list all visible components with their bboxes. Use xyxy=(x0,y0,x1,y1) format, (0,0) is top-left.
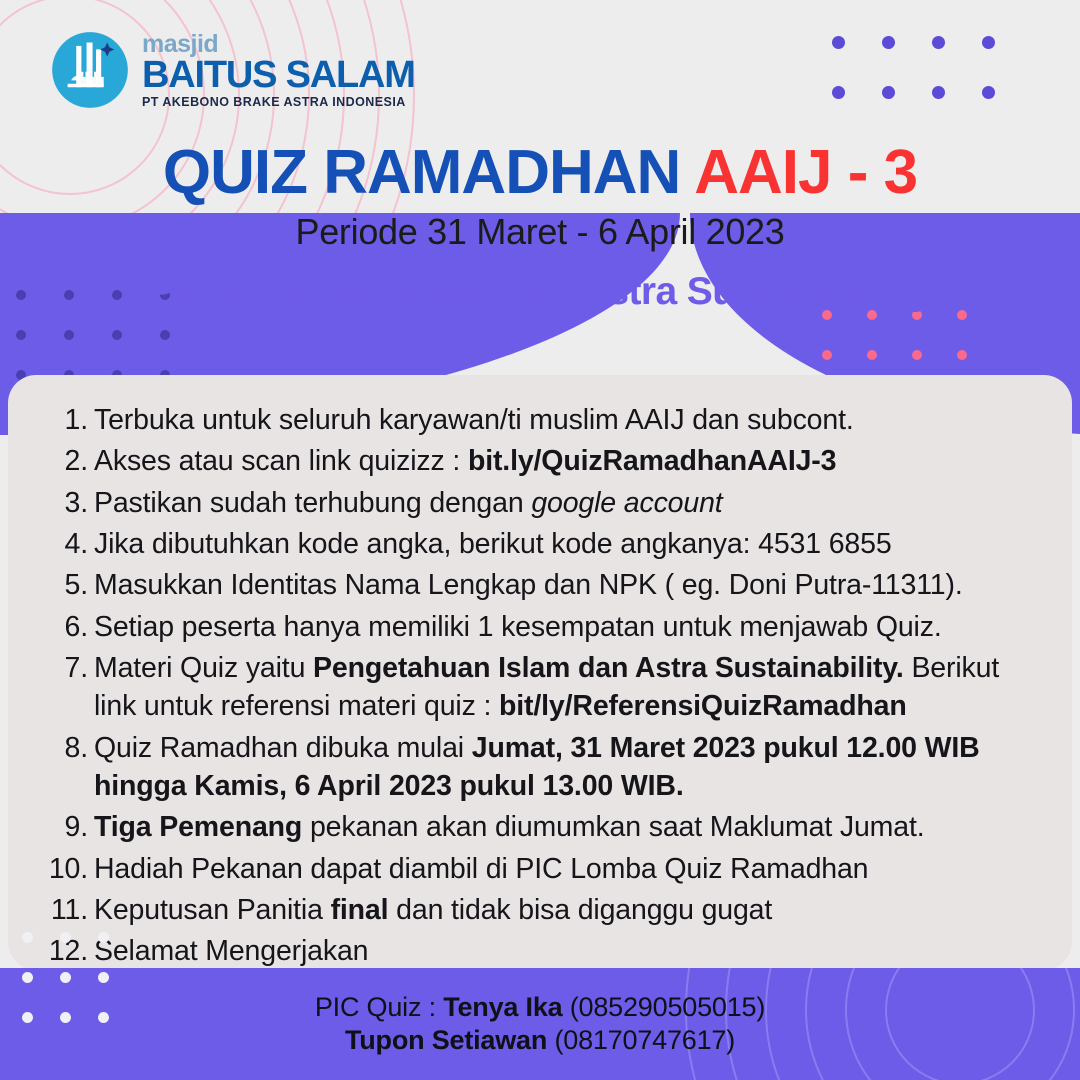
rule-item: Masukkan Identitas Nama Lengkap dan NPK … xyxy=(26,566,1038,604)
rule-item: Setiap peserta hanya memiliki 1 kesempat… xyxy=(26,608,1038,646)
rule-item: Hadiah Pekanan dapat diambil di PIC Lomb… xyxy=(26,850,1038,888)
masjid-logo-icon xyxy=(47,27,133,113)
rule-item: Terbuka untuk seluruh karyawan/ti muslim… xyxy=(26,401,1038,439)
footer-contact: PIC Quiz : Tenya Ika (085290505015) Tupo… xyxy=(0,968,1080,1080)
heading-block: QUIZ RAMADHAN AAIJ - 3 Periode 31 Maret … xyxy=(0,140,1080,313)
page-title-primary: QUIZ RAMADHAN xyxy=(163,138,694,207)
rule-item: Tiga Pemenang pekanan akan diumumkan saa… xyxy=(26,808,1038,846)
rule-item: Akses atau scan link quizizz : bit.ly/Qu… xyxy=(26,442,1038,480)
logo-company-name: PT AKEBONO BRAKE ASTRA INDONESIA xyxy=(142,95,415,111)
purple-dot-grid-topright xyxy=(832,36,1032,136)
page-title-accent: AAIJ - 3 xyxy=(694,138,917,207)
rule-item: Materi Quiz yaitu Pengetahuan Islam dan … xyxy=(26,649,1038,726)
rule-item: Jika dibutuhkan kode angka, berikut kode… xyxy=(26,525,1038,563)
page-subtitle: Pengetahuan Islam dan Astra Sustainabili… xyxy=(0,271,1080,313)
rules-card: Terbuka untuk seluruh karyawan/ti muslim… xyxy=(8,375,1072,970)
brand-logo: masjid BAITUS SALAM PT AKEBONO BRAKE AST… xyxy=(47,27,415,113)
pic-contact-line-2: Tupon Setiawan (08170747617) xyxy=(345,1025,735,1056)
rule-item: Quiz Ramadhan dibuka mulai Jumat, 31 Mar… xyxy=(26,729,1038,806)
page-title: QUIZ RAMADHAN AAIJ - 3 xyxy=(0,140,1080,205)
pic-contact-line-1: PIC Quiz : Tenya Ika (085290505015) xyxy=(315,992,765,1023)
poster-root: masjid BAITUS SALAM PT AKEBONO BRAKE AST… xyxy=(0,0,1080,1080)
rule-item: Keputusan Panitia final dan tidak bisa d… xyxy=(26,891,1038,929)
rules-list: Terbuka untuk seluruh karyawan/ti muslim… xyxy=(26,401,1038,971)
rule-item: Pastikan sudah terhubung dengan google a… xyxy=(26,484,1038,522)
periode-text: Periode 31 Maret - 6 April 2023 xyxy=(0,211,1080,253)
logo-brand-name: BAITUS SALAM xyxy=(142,57,415,93)
rule-item: Selamat Mengerjakan xyxy=(26,932,1038,970)
